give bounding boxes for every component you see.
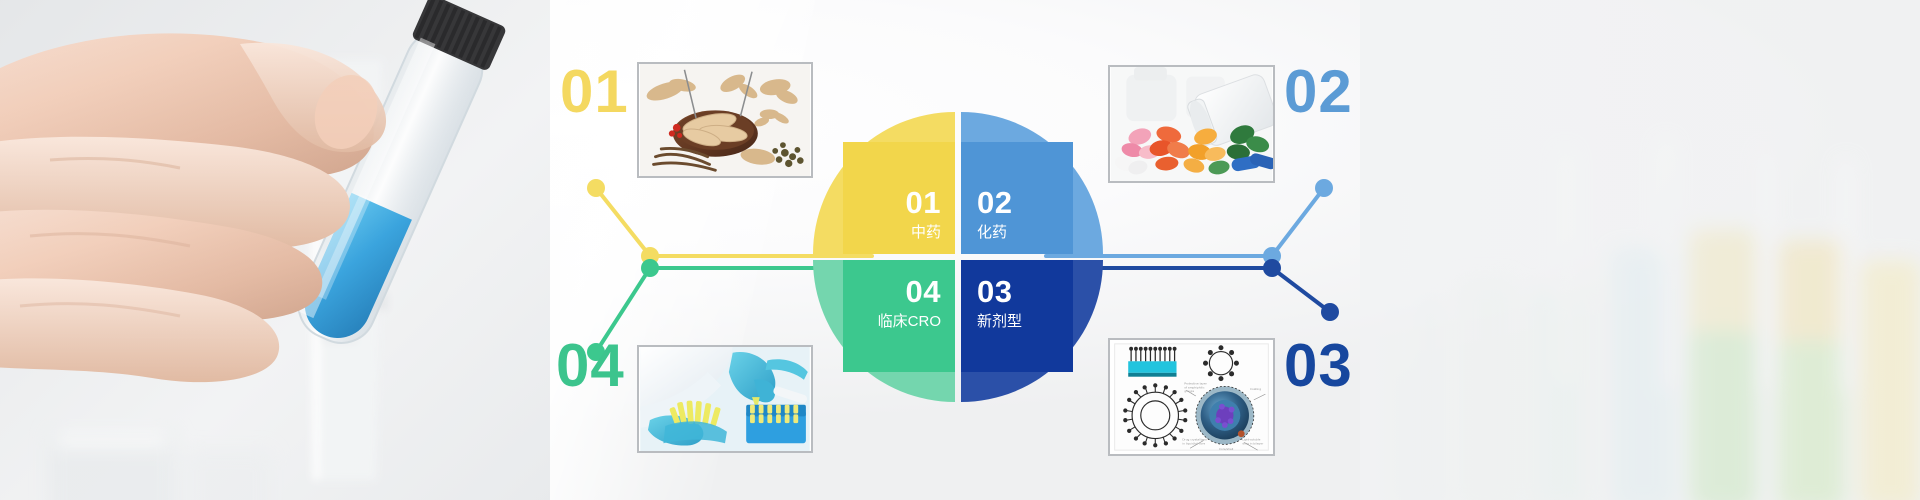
thumb-tcm[interactable] [637, 62, 813, 178]
segment-cro-number: 04 [878, 276, 941, 307]
outer-number-01: 01 [560, 62, 629, 122]
segment-chemical[interactable]: 02 化药 [961, 112, 1103, 254]
segment-dosage[interactable]: 03 新剂型 [961, 260, 1103, 402]
svg-text:drug in bilayer: drug in bilayer [1242, 441, 1264, 445]
svg-text:Coating: Coating [1250, 387, 1261, 391]
thumb-chemical[interactable] [1108, 65, 1275, 183]
segment-tcm-caption: 中药 [906, 225, 941, 240]
segment-dosage-number: 03 [977, 276, 1022, 307]
segment-chemical-caption: 化药 [977, 225, 1012, 240]
segment-chemical-label: 02 化药 [977, 187, 1012, 240]
segment-tcm-number: 01 [906, 187, 941, 218]
segment-tcm[interactable]: 01 中药 [813, 112, 955, 254]
four-segment-wheel: 01 中药 02 化药 04 临床CRO 03 新剂型 [813, 112, 1103, 402]
outer-number-03: 03 [1284, 336, 1353, 396]
segment-cro-caption: 临床CRO [878, 314, 941, 329]
segment-cro[interactable]: 04 临床CRO [813, 260, 955, 402]
thumb-cro[interactable] [637, 345, 813, 453]
segment-dosage-label: 03 新剂型 [977, 276, 1022, 329]
svg-text:Core/shell: Core/shell [1219, 447, 1234, 451]
banner-stage: 50 ml sterile [0, 0, 1920, 500]
outer-number-04: 04 [556, 336, 625, 396]
svg-text:groups: groups [1184, 389, 1194, 393]
segment-chemical-number: 02 [977, 187, 1012, 218]
svg-text:in liquid/oil core: in liquid/oil core [1182, 441, 1205, 445]
thumb-dosage[interactable]: Protective layer of amphiphilic groups C… [1108, 338, 1275, 456]
segment-cro-label: 04 临床CRO [878, 276, 941, 329]
segment-tcm-label: 01 中药 [906, 187, 941, 240]
segment-dosage-caption: 新剂型 [977, 314, 1022, 329]
outer-number-02: 02 [1284, 62, 1353, 122]
